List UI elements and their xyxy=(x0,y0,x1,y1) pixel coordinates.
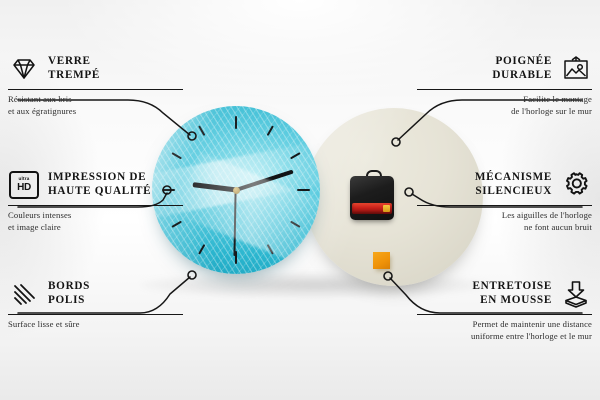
feature-bords-polis: BORDS POLIS Surface lisse et sûre xyxy=(8,277,183,331)
feature-header: ultra HD IMPRESSION DE HAUTE QUALITÉ xyxy=(8,168,183,202)
desc-line-2: et image claire xyxy=(8,222,183,234)
title-line-1: BORDS xyxy=(48,280,183,294)
feature-title: POIGNÉE DURABLE xyxy=(417,55,552,82)
feature-mecanisme-silencieux: MÉCANISME SILENCIEUX Les aiguilles de l'… xyxy=(417,168,592,234)
title-line-2: POLIS xyxy=(48,294,183,308)
desc-line-1: Facilite le montage xyxy=(417,94,592,106)
hour-hand xyxy=(192,182,236,192)
foam-spacer xyxy=(373,252,390,269)
title-line-1: ENTRETOISE xyxy=(417,280,552,294)
title-line-1: VERRE xyxy=(48,55,183,69)
feature-description: Permet de maintenir une distance uniform… xyxy=(417,319,592,343)
desc-line-1: Surface lisse et sûre xyxy=(8,319,183,331)
desc-line-2: et aux égratignures xyxy=(8,106,183,118)
desc-line-1: Les aiguilles de l'horloge xyxy=(417,210,592,222)
feature-header: POIGNÉE DURABLE xyxy=(417,52,592,86)
title-line-2: EN MOUSSE xyxy=(417,294,552,308)
ultra-hd-icon: ultra HD xyxy=(8,170,40,200)
feature-title: ENTRETOISE EN MOUSSE xyxy=(417,280,552,307)
polished-edges-icon xyxy=(8,279,40,309)
title-line-1: MÉCANISME xyxy=(417,171,552,185)
feature-description: Surface lisse et sûre xyxy=(8,319,183,331)
divider xyxy=(8,89,183,90)
feature-impression-haute-qualite: ultra HD IMPRESSION DE HAUTE QUALITÉ Cou… xyxy=(8,168,183,234)
diamond-icon xyxy=(8,54,40,84)
desc-line-2: ne font aucun bruit xyxy=(417,222,592,234)
feature-header: ENTRETOISE EN MOUSSE xyxy=(417,277,592,311)
desc-line-2: de l'horloge sur le mur xyxy=(417,106,592,118)
divider xyxy=(8,314,183,315)
title-line-1: POIGNÉE xyxy=(417,55,552,69)
hands-center-cap xyxy=(233,187,240,194)
divider xyxy=(417,89,592,90)
second-hand xyxy=(234,190,237,256)
desc-line-1: Résistant aux bris xyxy=(8,94,183,106)
feature-title: BORDS POLIS xyxy=(48,280,183,307)
desc-line-1: Couleurs intenses xyxy=(8,210,183,222)
feature-header: BORDS POLIS xyxy=(8,277,183,311)
feature-description: Couleurs intenses et image claire xyxy=(8,210,183,234)
title-line-2: TREMPÉ xyxy=(48,69,183,83)
feature-verre-trempe: VERRE TREMPÉ Résistant aux bris et aux é… xyxy=(8,52,183,118)
foam-spacer-icon xyxy=(560,279,592,309)
feature-title: MÉCANISME SILENCIEUX xyxy=(417,171,552,198)
gear-icon xyxy=(560,170,592,200)
feature-header: VERRE TREMPÉ xyxy=(8,52,183,86)
feature-entretoise-en-mousse: ENTRETOISE EN MOUSSE Permet de maintenir… xyxy=(417,277,592,343)
minute-hand xyxy=(235,170,293,192)
feature-poignee-durable: POIGNÉE DURABLE Facilite le montage de l… xyxy=(417,52,592,118)
divider xyxy=(8,205,183,206)
title-line-1: IMPRESSION DE xyxy=(48,171,183,185)
desc-line-1: Permet de maintenir une distance xyxy=(417,319,592,331)
title-line-2: DURABLE xyxy=(417,69,552,83)
title-line-2: SILENCIEUX xyxy=(417,185,552,199)
ultra-hd-main-label: HD xyxy=(17,183,31,193)
feature-title: IMPRESSION DE HAUTE QUALITÉ xyxy=(48,171,183,198)
feature-header: MÉCANISME SILENCIEUX xyxy=(417,168,592,202)
picture-hanger-icon xyxy=(560,54,592,84)
feature-title: VERRE TREMPÉ xyxy=(48,55,183,82)
title-line-2: HAUTE QUALITÉ xyxy=(48,185,183,199)
feature-description: Les aiguilles de l'horloge ne font aucun… xyxy=(417,210,592,234)
feature-description: Facilite le montage de l'horloge sur le … xyxy=(417,94,592,118)
divider xyxy=(417,205,592,206)
feature-description: Résistant aux bris et aux égratignures xyxy=(8,94,183,118)
desc-line-2: uniforme entre l'horloge et le mur xyxy=(417,331,592,343)
battery xyxy=(352,203,392,214)
divider xyxy=(417,314,592,315)
infographic-canvas: VERRE TREMPÉ Résistant aux bris et aux é… xyxy=(0,0,600,400)
